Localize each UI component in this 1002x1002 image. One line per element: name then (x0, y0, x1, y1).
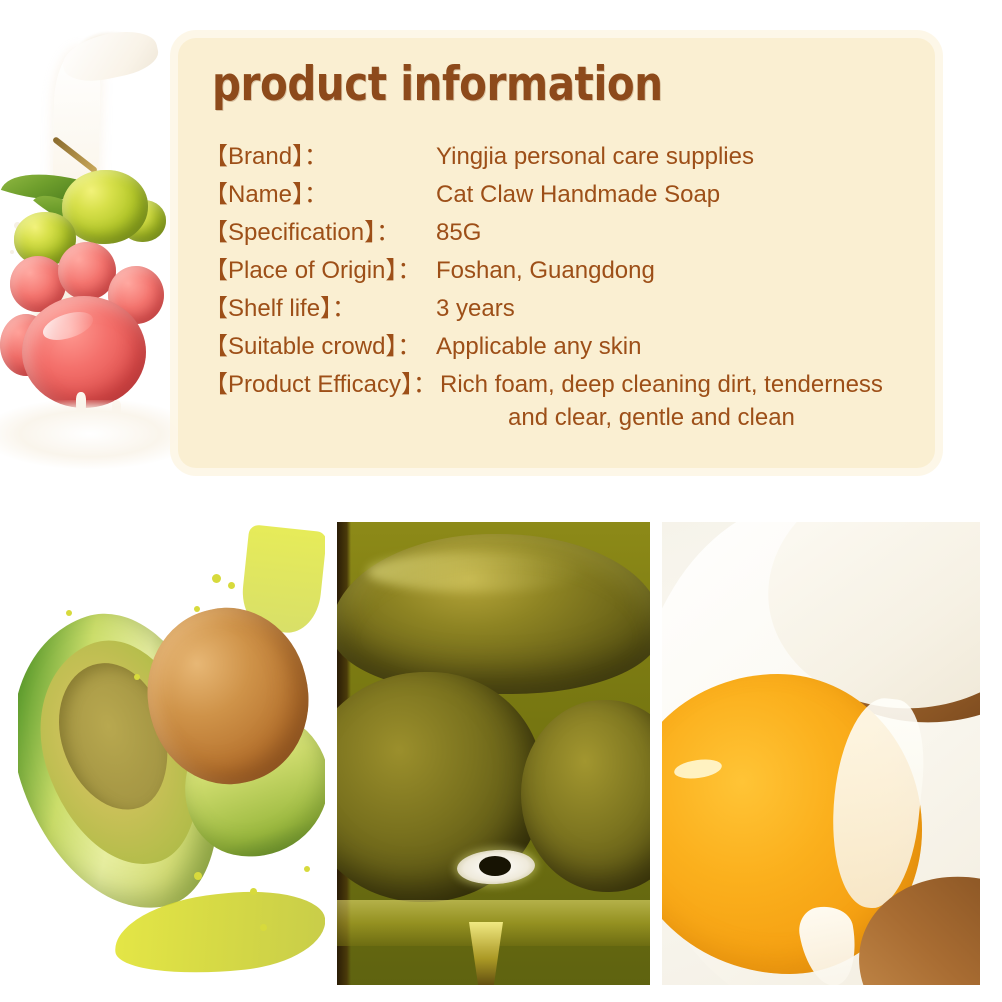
oil-droplet-icon (134, 674, 140, 680)
oil-droplet-icon (304, 866, 310, 872)
oil-droplet-icon (228, 582, 235, 589)
oil-highlight-shape (367, 552, 587, 592)
oil-droplet-icon (194, 872, 202, 880)
info-label-name: 【Name】： (204, 178, 436, 211)
oil-droplet-icon (260, 924, 267, 931)
oil-droplet-icon (66, 610, 72, 616)
info-row: 【Shelf life】： 3 years (204, 292, 916, 325)
info-value-product-efficacy-line2: and clear, gentle and clean (440, 401, 916, 434)
info-value-specification: 85G (436, 216, 916, 249)
info-row: 【Suitable crowd】： Applicable any skin (204, 330, 916, 363)
oil-stream-shape (469, 922, 503, 985)
info-value-place-of-origin: Foshan, Guangdong (436, 254, 916, 287)
info-label-brand: 【Brand】： (204, 140, 436, 173)
info-row: 【Product Efficacy】： Rich foam, deep clea… (204, 368, 916, 434)
olive-shape (521, 700, 650, 892)
ingredient-photo-strip (0, 500, 1002, 1002)
info-row: 【Place of Origin】： Foshan, Guangdong (204, 254, 916, 287)
info-label-place-of-origin: 【Place of Origin】： (204, 254, 436, 287)
info-value-suitable-crowd: Applicable any skin (436, 330, 916, 363)
info-label-suitable-crowd: 【Suitable crowd】： (204, 330, 436, 363)
product-info-list: 【Brand】： Yingjia personal care supplies … (204, 140, 916, 439)
info-row: 【Brand】： Yingjia personal care supplies (204, 140, 916, 173)
olive-reflection-core-shape (479, 856, 511, 876)
info-row: 【Specification】： 85G (204, 216, 916, 249)
info-value-brand: Yingjia personal care supplies (436, 140, 916, 173)
oil-droplet-icon (250, 888, 257, 895)
info-label-specification: 【Specification】： (204, 216, 436, 249)
info-label-shelf-life: 【Shelf life】： (204, 292, 436, 325)
coconut-honey-photo (662, 522, 980, 985)
info-value-shelf-life: 3 years (436, 292, 916, 325)
info-value-product-efficacy-line1: Rich foam, deep cleaning dirt, tendernes… (440, 371, 883, 398)
info-value-product-efficacy: Rich foam, deep cleaning dirt, tendernes… (440, 368, 916, 434)
olive-oil-photo (337, 522, 650, 985)
info-row: 【Name】： Cat Claw Handmade Soap (204, 178, 916, 211)
top-section: product information 【Brand】： Yingjia per… (0, 0, 1002, 500)
page-title: product information (212, 61, 663, 108)
product-information-panel: product information 【Brand】： Yingjia per… (178, 38, 935, 468)
info-label-product-efficacy: 【Product Efficacy】： (204, 368, 440, 401)
oil-droplet-icon (194, 606, 200, 612)
oil-droplet-icon (212, 574, 221, 583)
avocado-oil-photo (18, 522, 325, 985)
info-value-name: Cat Claw Handmade Soap (436, 178, 916, 211)
